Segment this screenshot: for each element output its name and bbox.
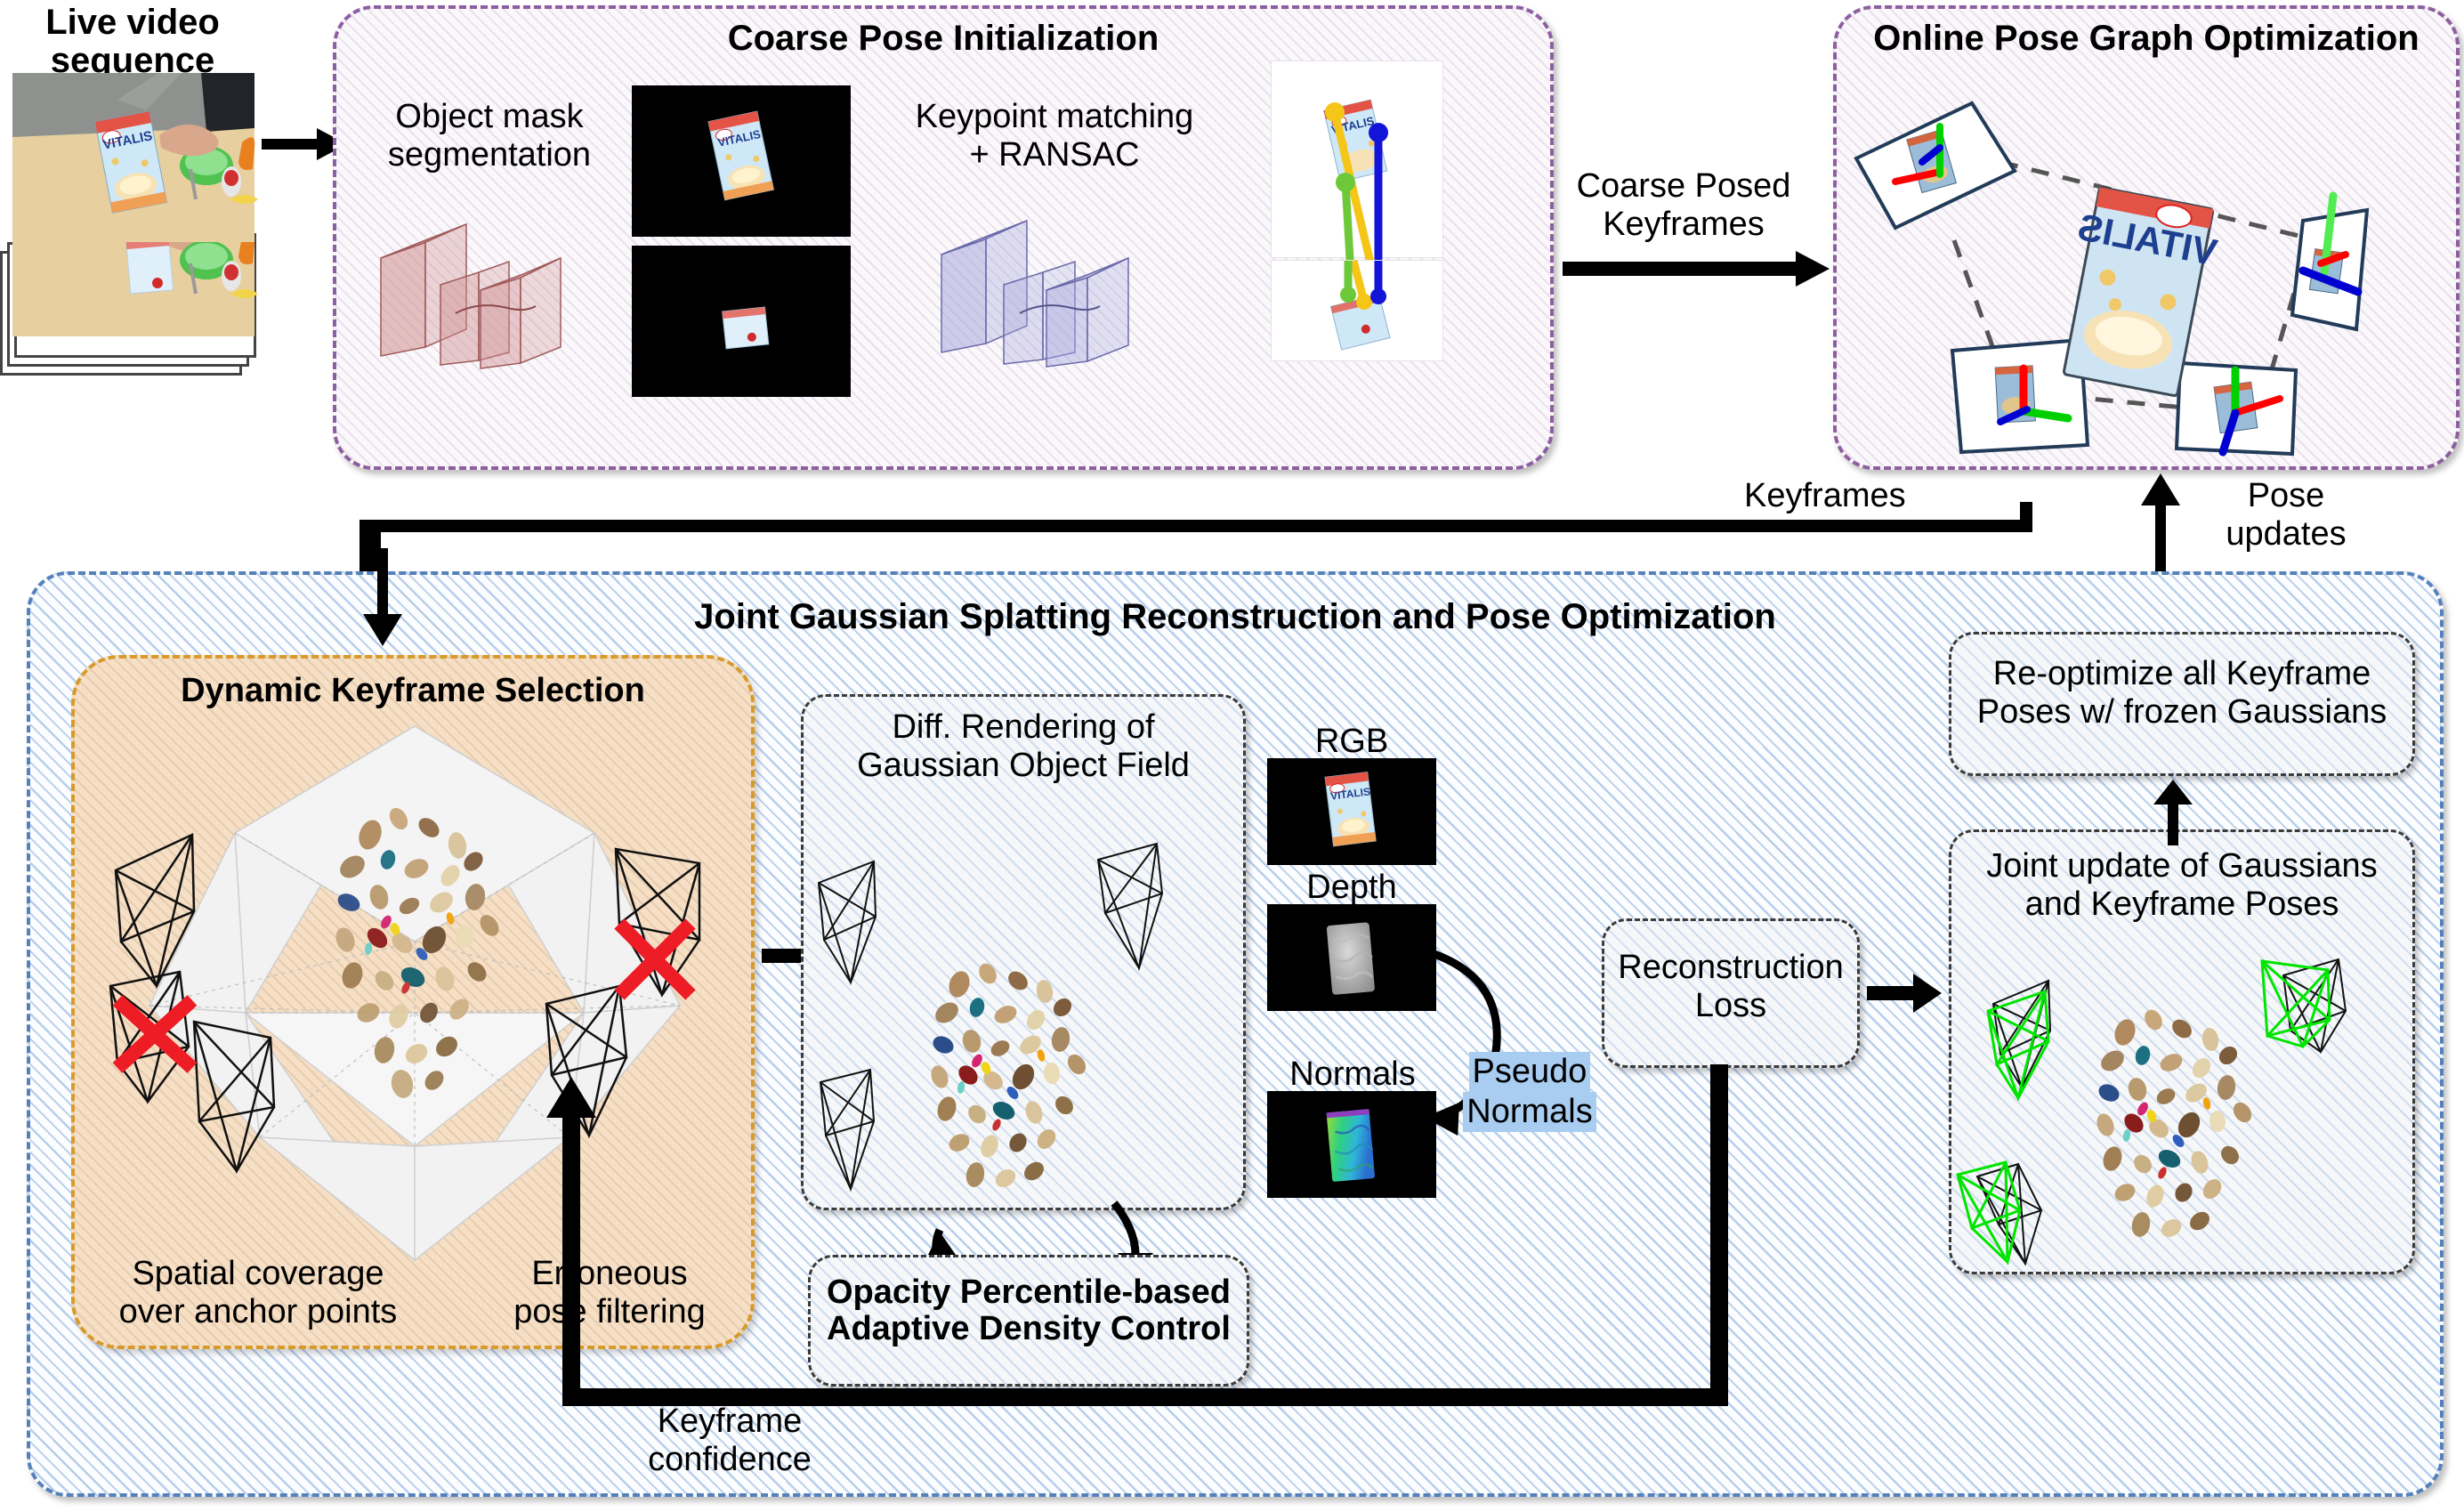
depth-label: Depth [1269, 869, 1434, 907]
object-mask-image-bottom [632, 246, 851, 397]
joint-update-line2: and Keyframe Poses [1949, 885, 2415, 924]
live-video-title-line1: Live video [12, 4, 253, 42]
arrow-jointupdate-to-reoptimize [2146, 780, 2200, 845]
rgb-render-image: VITALIS [1267, 758, 1436, 865]
diff-rendering-title: Diff. Rendering of Gaussian Object Field [801, 708, 1246, 786]
spatial-coverage-caption: Spatial coverage over anchor points [89, 1255, 427, 1332]
object-mask-label: Object mask segmentation [356, 98, 623, 175]
spatial-coverage-line1: Spatial coverage [89, 1255, 427, 1293]
joint-update-illustration [1956, 926, 2401, 1264]
arrow-coarse-to-posegraph [1563, 251, 1830, 287]
joint-update-line1: Joint update of Gaussians [1949, 847, 2415, 885]
depth-render-image [1267, 904, 1436, 1011]
coarse-posed-keyframes-line2: Keyframes [1550, 206, 1817, 244]
live-video-title: Live video sequence [12, 4, 253, 80]
keypoint-matching-label: Keypoint matching + RANSAC [890, 98, 1219, 175]
gaussian-splat-cloud-jointupdate [2094, 1007, 2255, 1241]
object-mask-label-line2: segmentation [356, 136, 623, 174]
coarse-pose-title: Coarse Pose Initialization [333, 20, 1554, 58]
pose-graph-title: Online Pose Graph Optimization [1833, 20, 2460, 58]
pose-graph-keyframe-card-2 [2292, 196, 2367, 329]
pose-graph-illustration: VITALIS [1840, 62, 2454, 463]
reconstruction-loss-line1: Reconstruction [1602, 949, 1860, 987]
rgb-label: RGB [1269, 723, 1434, 761]
keyframe-confidence-line1: Keyframe [614, 1403, 845, 1441]
keyframe-confidence-label: Keyframe confidence [614, 1403, 845, 1480]
reconstruction-loss-label: Reconstruction Loss [1602, 949, 1860, 1026]
keypoint-matching-label-line1: Keypoint matching [890, 98, 1219, 136]
reconstruction-loss-line2: Loss [1602, 987, 1860, 1025]
pose-graph-keyframe-card-1 [1856, 103, 2015, 228]
diff-rendering-title-line1: Diff. Rendering of [801, 708, 1246, 747]
camera-frustum-dr-1 [819, 861, 876, 982]
spatial-coverage-line2: over anchor points [89, 1293, 427, 1331]
object-mask-image-top: VITALIS [632, 85, 851, 237]
reoptimize-label: Re-optimize all Keyframe Poses w/ frozen… [1949, 655, 2415, 732]
diff-rendering-title-line2: Gaussian Object Field [801, 747, 1246, 785]
object-mask-label-line1: Object mask [356, 98, 623, 136]
camera-frustum-optimized-3 [1958, 1162, 2020, 1262]
camera-frustum-dr-2 [1098, 844, 1162, 968]
arrow-into-joint-panel [356, 548, 409, 646]
coarse-posed-keyframes-line1: Coarse Posed [1550, 167, 1817, 206]
coarse-posed-keyframes-label: Coarse Posed Keyframes [1550, 167, 1817, 245]
pose-updates-label: Pose updates [2193, 477, 2379, 554]
pose-graph-keyframe-card-4 [2177, 363, 2296, 454]
camera-frustum-optimized-2 [2262, 961, 2330, 1047]
arrow-keyframe-confidence [534, 1064, 1744, 1438]
arrow-pose-updates-up [2134, 473, 2187, 582]
arrow-loss-to-jointupdate [1867, 972, 1942, 1015]
keypoint-matching-label-line2: + RANSAC [890, 136, 1219, 174]
keypoint-boxes-illustration [934, 203, 1184, 359]
mask-boxes-illustration [374, 205, 614, 356]
pose-updates-line1: Pose [2193, 477, 2379, 515]
reoptimize-line1: Re-optimize all Keyframe [1949, 655, 2415, 693]
joint-update-label: Joint update of Gaussians and Keyframe P… [1949, 847, 2415, 925]
keyframe-selection-title: Dynamic Keyframe Selection [71, 673, 755, 709]
keyframe-confidence-line2: confidence [614, 1441, 845, 1479]
pose-estimate-image-lower [1271, 260, 1443, 361]
pose-estimate-image: VITALIS [1271, 61, 1443, 258]
video-frame-1: VITALIS [12, 73, 254, 242]
reoptimize-line2: Poses w/ frozen Gaussians [1949, 693, 2415, 732]
pose-updates-line2: updates [2193, 515, 2379, 554]
